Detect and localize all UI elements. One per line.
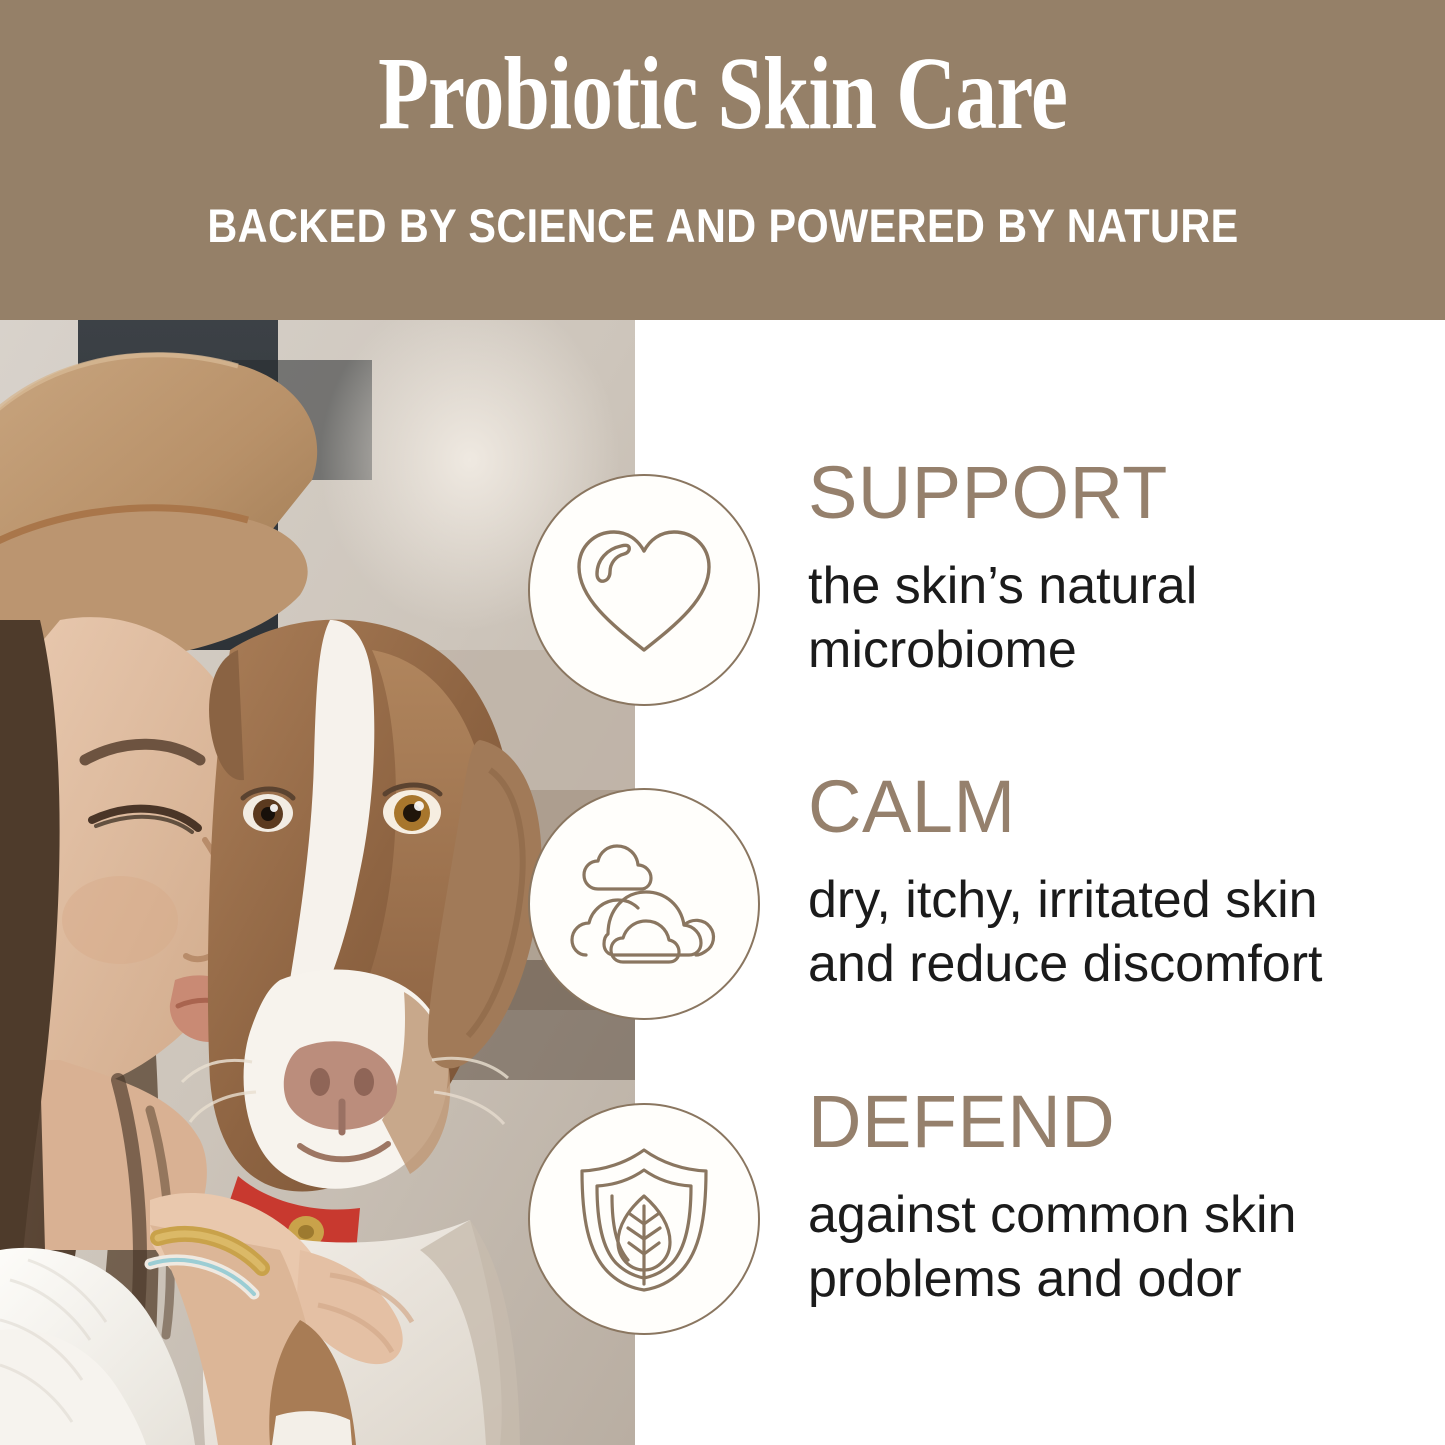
benefit-body-line: microbiome xyxy=(808,618,1408,682)
benefit-heading-defend: DEFEND xyxy=(808,1085,1408,1159)
benefit-row-support: SUPPORT the skin’s natural microbiome xyxy=(0,456,1445,756)
benefit-row-calm: CALM dry, itchy, irritated skin and redu… xyxy=(0,770,1445,1070)
clouds-icon-badge xyxy=(528,788,760,1020)
benefit-copy-support: SUPPORT the skin’s natural microbiome xyxy=(808,456,1408,683)
shield-leaf-icon-badge xyxy=(528,1103,760,1335)
benefits-list: SUPPORT the skin’s natural microbiome xyxy=(0,320,1445,1445)
benefit-body-support: the skin’s natural microbiome xyxy=(808,554,1408,683)
benefit-body-line: and reduce discomfort xyxy=(808,932,1408,996)
benefit-body-line: against common skin xyxy=(808,1183,1408,1247)
benefit-body-line: dry, itchy, irritated skin xyxy=(808,868,1408,932)
heart-icon-badge xyxy=(528,474,760,706)
benefit-body-calm: dry, itchy, irritated skin and reduce di… xyxy=(808,868,1408,997)
benefit-heading-calm: CALM xyxy=(808,770,1408,844)
clouds-icon xyxy=(568,842,720,966)
shield-leaf-icon xyxy=(574,1144,714,1294)
heart-icon xyxy=(569,522,719,658)
benefit-body-line: problems and odor xyxy=(808,1247,1408,1311)
benefit-copy-defend: DEFEND against common skin problems and … xyxy=(808,1085,1408,1312)
header-banner: Probiotic Skin Care BACKED BY SCIENCE AN… xyxy=(0,0,1445,320)
benefit-body-defend: against common skin problems and odor xyxy=(808,1183,1408,1312)
page-subtitle: BACKED BY SCIENCE AND POWERED BY NATURE xyxy=(207,202,1238,249)
benefit-copy-calm: CALM dry, itchy, irritated skin and redu… xyxy=(808,770,1408,997)
page-title: Probiotic Skin Care xyxy=(378,42,1067,146)
benefit-row-defend: DEFEND against common skin problems and … xyxy=(0,1085,1445,1385)
product-benefits-infographic: Probiotic Skin Care BACKED BY SCIENCE AN… xyxy=(0,0,1445,1445)
benefit-body-line: the skin’s natural xyxy=(808,554,1408,618)
benefit-heading-support: SUPPORT xyxy=(808,456,1408,530)
